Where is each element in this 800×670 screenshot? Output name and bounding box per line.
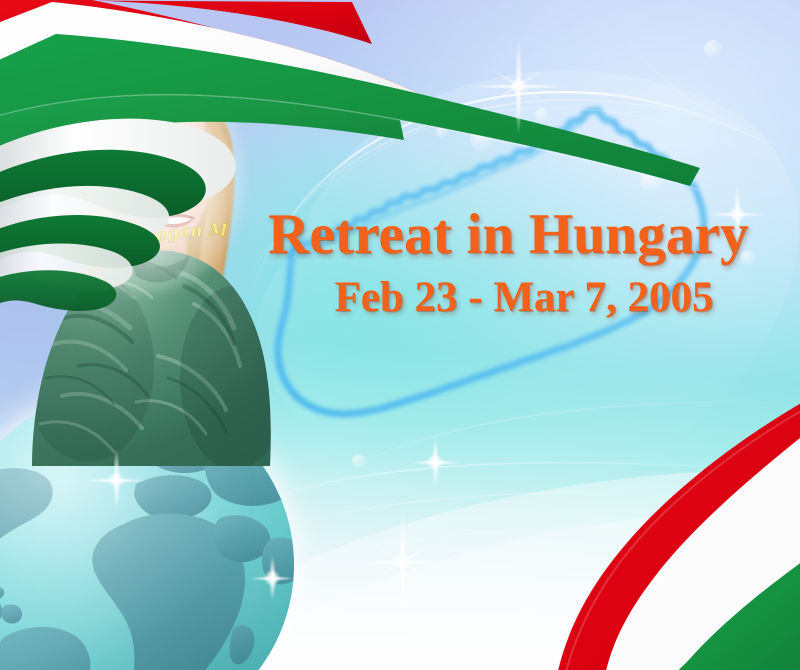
title-block: Retreat in Hungary Feb 23 - Mar 7, 2005: [268, 206, 788, 321]
woman-portrait: Be Vegan Make Peace: [18, 66, 286, 466]
retreat-poster: Be Vegan Make Peace: [0, 0, 800, 670]
portrait-halo: [46, 62, 246, 294]
event-date: Feb 23 - Mar 7, 2005: [268, 274, 788, 321]
page-title: Retreat in Hungary: [268, 206, 788, 264]
